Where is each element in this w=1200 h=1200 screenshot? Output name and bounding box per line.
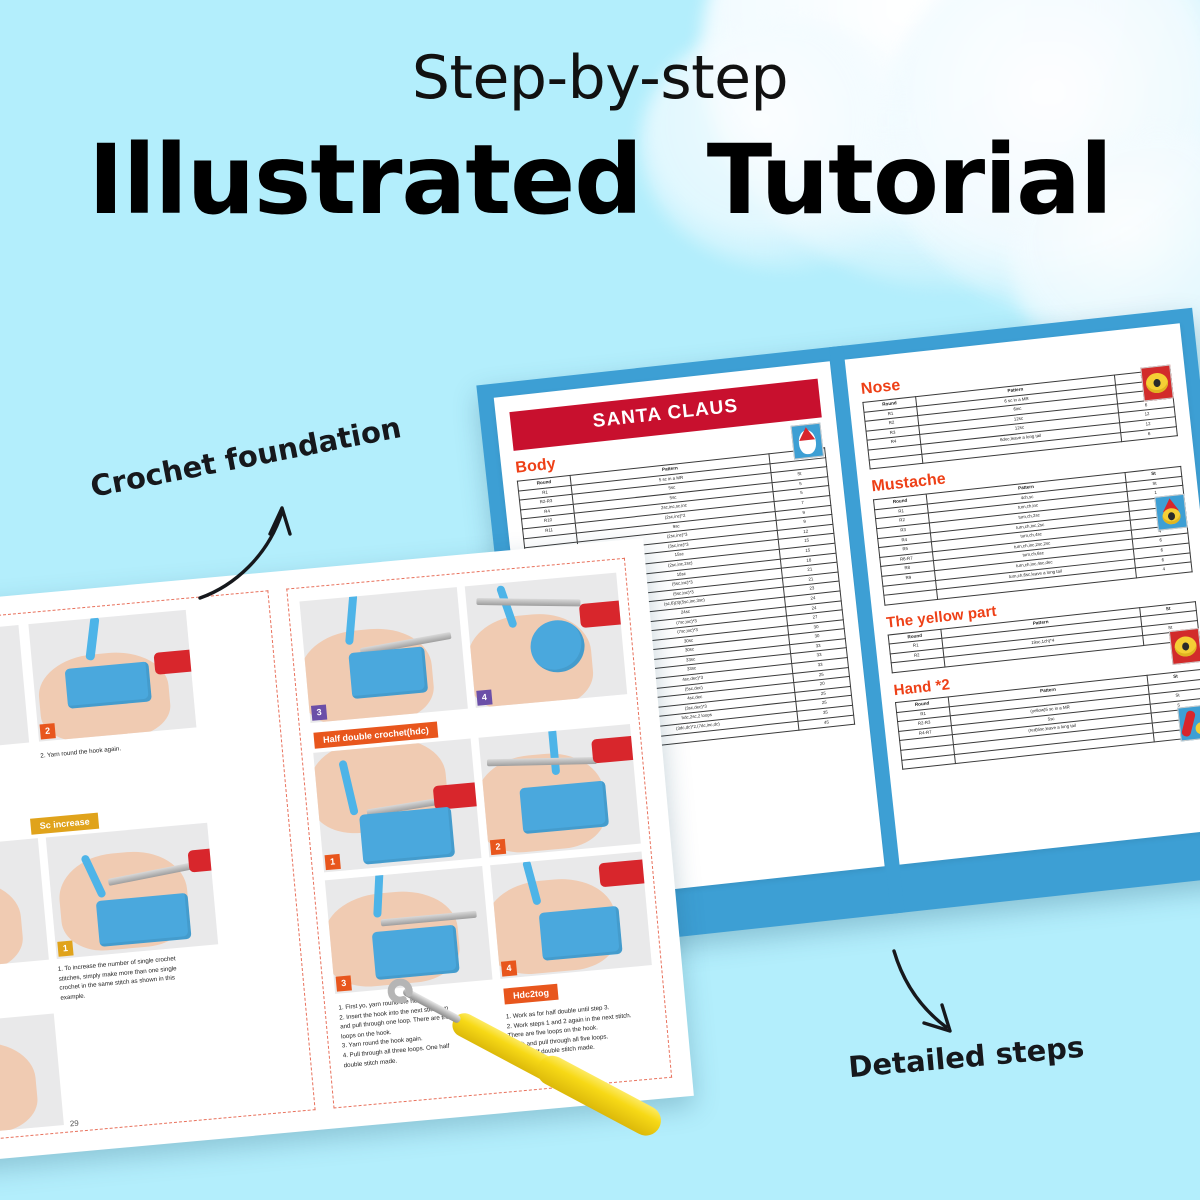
photo-page-left: 2 2. Yarn round the hook again. To decre… — [0, 584, 322, 1147]
tutorial-photo: 2 — [28, 610, 196, 742]
curved-down-arrow-icon — [880, 945, 990, 1055]
heading-block: Step-by-step Illustrated Tutorial — [0, 48, 1200, 228]
step-badge: 2 — [40, 723, 56, 739]
page-title: Illustrated Tutorial — [0, 132, 1200, 228]
step-badge: 2 — [490, 839, 506, 855]
nose-thumbnail — [1140, 364, 1173, 401]
tutorial-photo: 1 — [313, 739, 481, 873]
hand-arm-icon — [1181, 710, 1196, 737]
hand-mitten-icon — [1195, 722, 1200, 735]
photo-page-number: 29 — [69, 1119, 79, 1129]
photo-page-right: 3 4 Half double crochet(hdc) 1 — [280, 551, 679, 1115]
tutorial-photo: 4 — [465, 573, 627, 708]
subtitle: Step-by-step — [0, 48, 1200, 108]
hand-thumbnail — [1177, 704, 1200, 741]
santa-thumbnail — [791, 423, 824, 460]
tutorial-photo: 3 — [299, 587, 467, 723]
photo-tutorial-book: 2 2. Yarn round the hook again. To decre… — [0, 538, 694, 1162]
nose-part-icon — [1145, 372, 1169, 394]
mustache-part-icon — [1162, 507, 1182, 525]
tutorial-photo: 4 — [490, 852, 652, 979]
step-badge: 3 — [336, 975, 352, 991]
pattern-page-right: Nose Round Pattern St R16 sc in a MRR26i… — [844, 323, 1200, 865]
step-badge: 3 — [311, 705, 327, 721]
mustache-thumbnail — [1154, 494, 1187, 531]
tutorial-photo: 1 — [46, 823, 218, 959]
tutorial-photo: 2 — [479, 724, 641, 857]
santa-hat-icon — [798, 426, 815, 441]
tutorial-photo: 3 — [325, 866, 493, 994]
step-caption: 1. First yo, yarn round the hook. 2. Ins… — [338, 989, 501, 1070]
step-badge: 4 — [476, 689, 492, 705]
yellow-part-icon — [1174, 635, 1198, 657]
step-badge: 4 — [501, 960, 517, 976]
step-badge: 1 — [57, 940, 73, 956]
yellow-part-thumbnail — [1169, 628, 1200, 665]
step-badge: 1 — [325, 854, 341, 870]
curved-up-arrow-icon — [190, 490, 320, 605]
